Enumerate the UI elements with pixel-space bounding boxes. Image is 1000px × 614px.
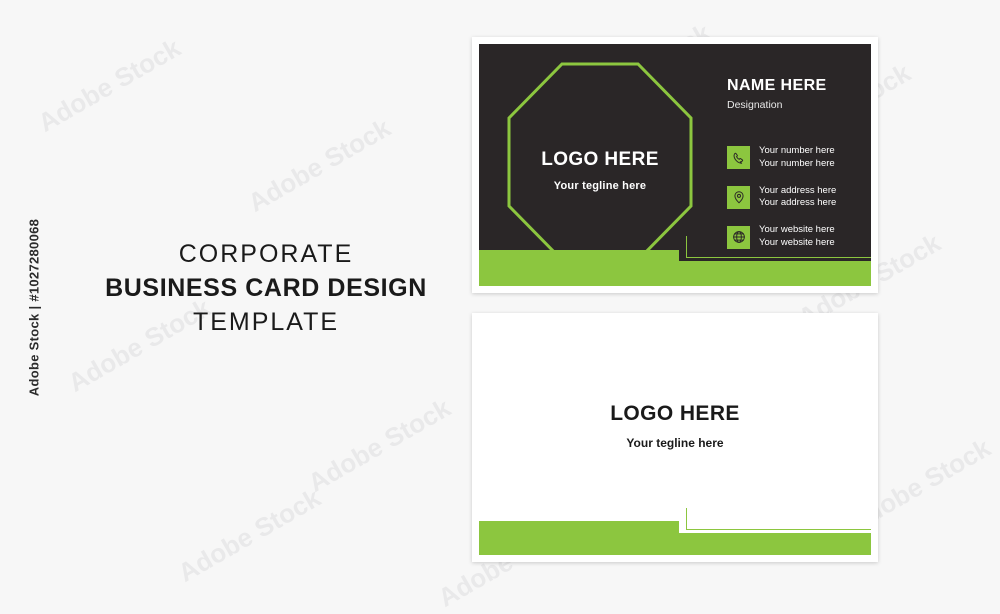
phone-line-1: Your number here [759,145,835,156]
address-line-1: Your address here [759,185,836,196]
name-block: NAME HERE Designation [727,77,827,111]
watermark-tile: Adobe Stock [243,112,396,218]
back-accent-line [686,508,871,530]
back-green-bar-left [479,521,679,555]
phone-icon [727,146,750,169]
business-card-front[interactable]: LOGO HERE Your tegline here NAME HERE De… [472,37,878,293]
watermark-tile: Adobe Stock [33,32,186,138]
contact-text-phone: Your number here Your number here [759,145,835,171]
location-pin-icon [727,186,750,209]
logo-title: LOGO HERE [507,149,693,171]
person-name: NAME HERE [727,77,827,95]
back-logo-title: LOGO HERE [479,402,871,426]
contact-row-address[interactable]: Your address here Your address here [727,185,871,211]
front-accent-line [686,236,871,258]
person-designation: Designation [727,99,827,111]
front-green-bar-right [679,261,871,286]
logo-tagline: Your tegline here [507,180,693,192]
title-line-template: TEMPLATE [88,306,444,340]
contact-row-phone[interactable]: Your number here Your number here [727,145,871,171]
back-logo-block: LOGO HERE Your tegline here [479,402,871,450]
watermark-tile: Adobe Stock [303,392,456,498]
back-green-bar-right [679,533,871,555]
card-back-canvas: LOGO HERE Your tegline here [479,320,871,555]
back-logo-tagline: Your tegline here [479,436,871,450]
title-line-corporate: CORPORATE [88,238,444,272]
phone-line-2: Your number here [759,158,835,169]
front-green-bar-left [479,250,679,286]
contact-text-address: Your address here Your address here [759,185,836,211]
website-line-1: Your website here [759,224,835,235]
title-line-main: BUSINESS CARD DESIGN [88,272,444,306]
address-line-2: Your address here [759,197,836,208]
watermark-tile: Adobe Stock [173,482,326,588]
stock-id-watermark: Adobe Stock | #1027280068 [27,178,42,438]
page-title: CORPORATE BUSINESS CARD DESIGN TEMPLATE [88,238,444,339]
business-card-back[interactable]: LOGO HERE Your tegline here [472,313,878,562]
card-front-canvas: LOGO HERE Your tegline here NAME HERE De… [479,44,871,286]
front-logo-block: LOGO HERE Your tegline here [507,149,693,192]
contact-list: Your number here Your number here Your a… [727,145,871,250]
